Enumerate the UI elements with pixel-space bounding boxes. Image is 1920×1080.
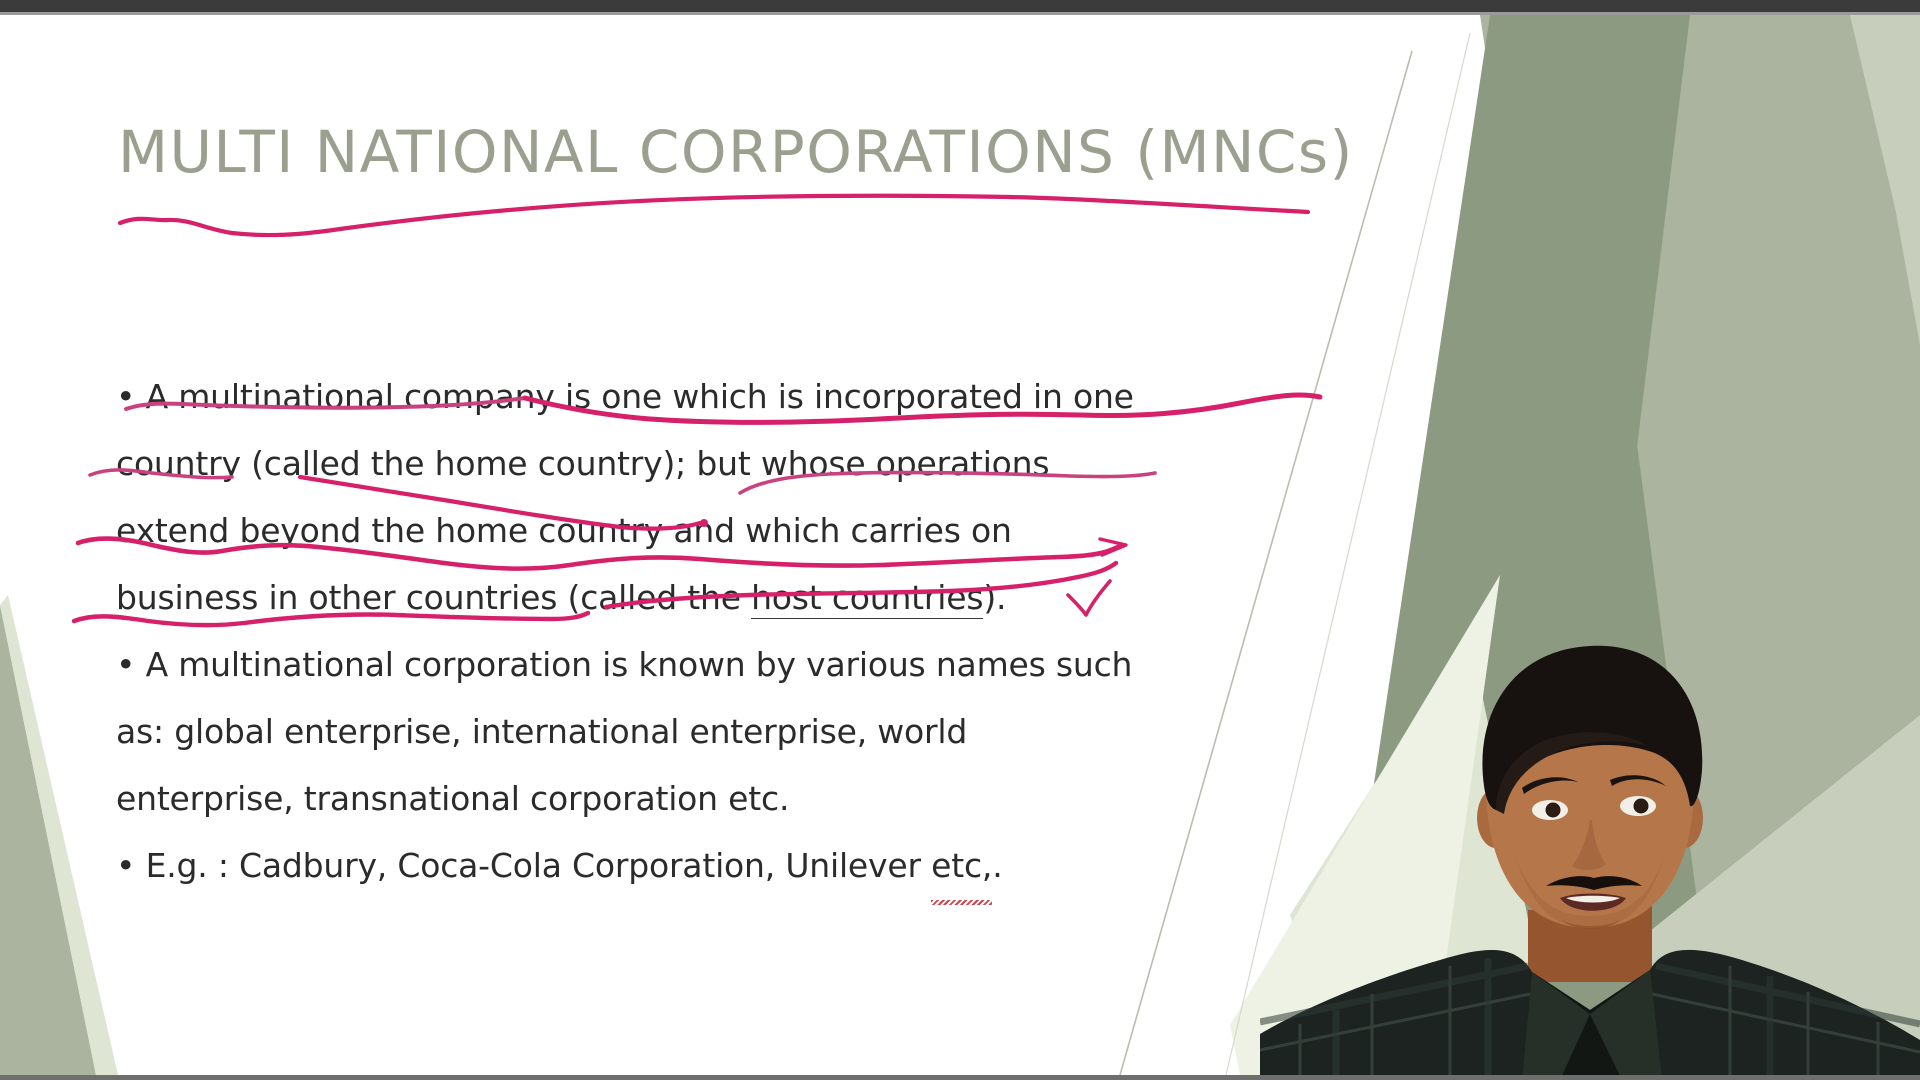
- body-line-2: country (called the home country); but w…: [116, 430, 1276, 497]
- recorder-top-hairline: [0, 12, 1920, 15]
- body-line-4-suffix: ).: [983, 578, 1006, 617]
- body-line-5: • A multinational corporation is known b…: [116, 631, 1276, 698]
- body-line-8: • E.g. : Cadbury, Coca-Cola Corporation,…: [116, 832, 1276, 899]
- body-line-4-prefix: business in other countries (called the: [116, 578, 751, 617]
- body-line-8-prefix: E.g. : Cadbury, Coca-Cola Corporation, U…: [146, 846, 932, 885]
- recorder-top-bar: [0, 0, 1920, 12]
- body-line-5-text: A multinational corporation is known by …: [146, 645, 1133, 684]
- slide-body: • A multinational company is one which i…: [116, 363, 1276, 899]
- recorder-bottom-bar: [0, 1075, 1920, 1080]
- presenter-webcam-overlay: [1260, 610, 1920, 1080]
- screen-recording-stage: MULTI NATIONAL CORPORATIONS (MNCs) • A m…: [0, 0, 1920, 1080]
- body-line-1: • A multinational company is one which i…: [116, 363, 1276, 430]
- bullet-marker: •: [116, 832, 135, 899]
- body-line-3: extend beyond the home country and which…: [116, 497, 1276, 564]
- host-countries-underlined-phrase: host countries: [751, 578, 983, 619]
- spellcheck-flagged-word: etc,: [931, 832, 992, 899]
- body-line-4: business in other countries (called the …: [116, 564, 1276, 631]
- body-line-8-suffix: .: [992, 846, 1002, 885]
- bullet-marker: •: [116, 363, 135, 430]
- bullet-marker: •: [116, 631, 135, 698]
- body-line-1-text: A multinational company is one which is …: [146, 377, 1134, 416]
- slide-title: MULTI NATIONAL CORPORATIONS (MNCs): [118, 118, 1354, 186]
- body-line-6: as: global enterprise, international ent…: [116, 698, 1276, 765]
- body-line-7: enterprise, transnational corporation et…: [116, 765, 1276, 832]
